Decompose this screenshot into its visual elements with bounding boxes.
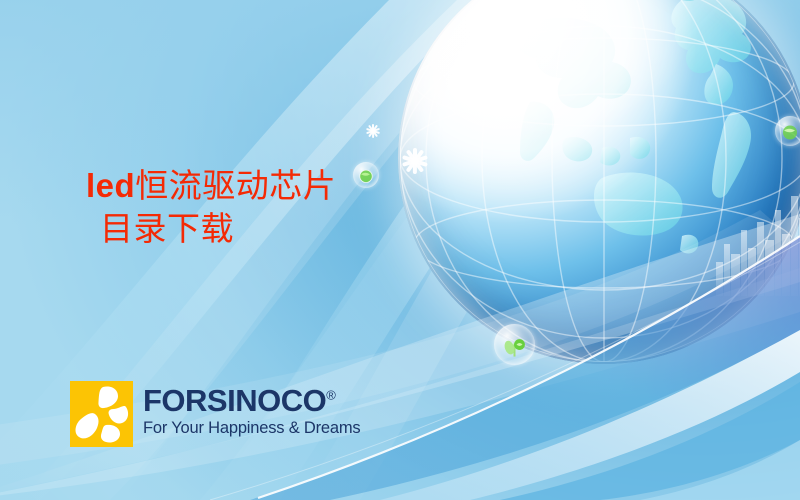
slide-canvas: led恒流驱动芯片 目录下载 FORSINOCO® For Your Happi… [0, 0, 800, 500]
headline-line-2: 目录下载 [86, 208, 336, 251]
headline-latin: led [86, 167, 135, 204]
brand-name-text: FORSINOCO [143, 383, 326, 418]
company-logo[interactable]: FORSINOCO® For Your Happiness & Dreams [70, 381, 360, 447]
building [748, 248, 756, 296]
building [775, 210, 781, 296]
building [757, 222, 764, 296]
daisy-petal [368, 130, 374, 137]
daisy-petal [366, 128, 373, 132]
headline-text: led恒流驱动芯片 目录下载 [86, 165, 336, 251]
headline-han: 恒流驱动芯片 [135, 166, 336, 205]
logo-wordmark: FORSINOCO® For Your Happiness & Dreams [143, 381, 360, 438]
building [782, 234, 790, 296]
brand-name: FORSINOCO® [143, 385, 360, 416]
mini-globe-icon [353, 163, 379, 189]
building [724, 244, 730, 296]
pinwheel-petals-icon [70, 381, 133, 447]
building [716, 262, 723, 296]
headline-line-1: led恒流驱动芯片 [86, 165, 336, 208]
daisy-petal [368, 125, 374, 132]
city-skyline-silhouette [714, 188, 800, 296]
building [765, 240, 774, 296]
brand-tagline: For Your Happiness & Dreams [143, 419, 360, 438]
daisy-petal [373, 128, 380, 132]
daisy-petal [372, 124, 374, 131]
pinwheel-petals-svg [70, 381, 133, 447]
daisy-petal [372, 125, 378, 132]
daisy-petal [372, 131, 374, 138]
building [731, 254, 740, 296]
daisy-petal [372, 130, 378, 137]
daisy-petal [366, 130, 373, 134]
building [791, 196, 798, 296]
building [741, 230, 747, 296]
earth-globe [398, 0, 800, 364]
daisy-petal [373, 130, 380, 134]
registered-trademark-icon: ® [326, 388, 336, 403]
bubble-with-globe-icon [353, 162, 379, 188]
